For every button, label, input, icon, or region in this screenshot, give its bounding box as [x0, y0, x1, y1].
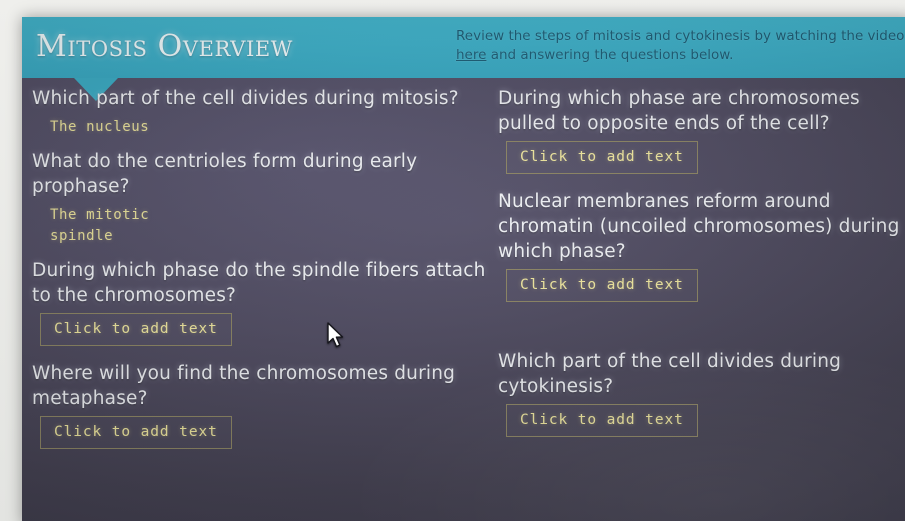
question-block: During which phase do the spindle fibers… — [28, 255, 498, 356]
question-block: Where will you find the chromosomes duri… — [28, 358, 498, 459]
question-block: Which part of the cell divides during cy… — [494, 346, 905, 447]
slide-body: Which part of the cell divides during mi… — [22, 83, 905, 521]
question-text: Which part of the cell divides during mi… — [28, 83, 498, 113]
question-block: Nuclear membranes reform around chromati… — [494, 186, 905, 312]
header-instructions-part2: and answering the questions below. — [486, 47, 733, 63]
question-text: During which phase are chromosomes pulle… — [494, 83, 905, 138]
right-question-column: During which phase are chromosomes pulle… — [494, 83, 905, 449]
question-text: During which phase do the spindle fibers… — [28, 255, 498, 310]
answer-placeholder-box[interactable]: Click to add text — [506, 269, 698, 302]
question-text: Which part of the cell divides during cy… — [494, 346, 905, 401]
page-title: Mitosis Overview — [36, 29, 293, 64]
question-block: What do the centrioles form during early… — [28, 146, 498, 253]
answer-placeholder-box[interactable]: Click to add text — [506, 141, 698, 174]
question-block: Which part of the cell divides during mi… — [28, 83, 498, 144]
answer-placeholder-box[interactable]: Click to add text — [506, 404, 698, 437]
answer-placeholder-box[interactable]: Click to add text — [40, 313, 232, 346]
question-text: Nuclear membranes reform around chromati… — [494, 186, 905, 266]
video-link[interactable]: here — [456, 47, 486, 63]
answer-text[interactable]: The nucleus — [28, 113, 498, 144]
slide-photo: Mitosis Overview Review the steps of mit… — [0, 0, 905, 521]
question-text: Where will you find the chromosomes duri… — [28, 358, 498, 413]
header-instructions: Review the steps of mitosis and cytokine… — [456, 27, 905, 65]
answer-text[interactable]: The mitotic spindle — [28, 201, 200, 253]
question-text: What do the centrioles form during early… — [28, 146, 498, 201]
left-question-column: Which part of the cell divides during mi… — [28, 83, 498, 461]
question-block: During which phase are chromosomes pulle… — [494, 83, 905, 184]
answer-placeholder-box[interactable]: Click to add text — [40, 416, 232, 449]
presentation-slide: Mitosis Overview Review the steps of mit… — [22, 17, 905, 521]
header-instructions-part1: Review the steps of mitosis and cytokine… — [456, 28, 904, 44]
